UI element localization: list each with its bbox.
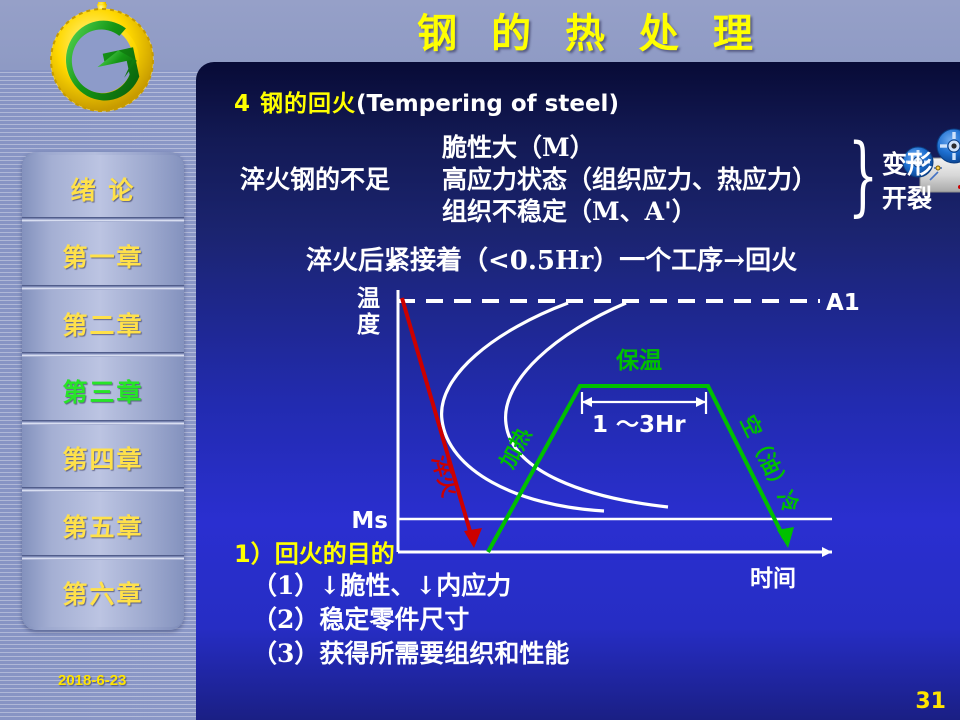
quenched-steel-defects: 淬火钢的不足 脆性大（M） 高应力状态（组织应力、热应力） 组织不稳定（M、A'…: [232, 132, 932, 228]
hold-label: 保温: [615, 347, 662, 374]
ttt-curve-start: [442, 303, 604, 511]
logo-gear-g-icon: [28, 2, 176, 122]
sidebar-item-chapter-4[interactable]: 第四章: [22, 425, 184, 492]
section-heading-en: (Tempering of steel): [356, 91, 619, 117]
hold-duration-label: 1 ～3Hr: [592, 412, 686, 438]
footer-date: 2018-6-23: [58, 672, 126, 689]
slide-content-panel: 4 钢的回火(Tempering of steel): [196, 62, 960, 720]
defect-line-2: 高应力状态（组织应力、热应力）: [442, 164, 817, 196]
defects-label: 淬火钢的不足: [240, 160, 390, 196]
ms-label: Ms: [351, 508, 388, 534]
heating-label: 加热: [494, 424, 536, 474]
tempering-curve: [488, 386, 784, 552]
sidebar-item-intro[interactable]: 绪 论: [22, 155, 184, 222]
defects-list: 脆性大（M） 高应力状态（组织应力、热应力） 组织不稳定（M、A'）: [442, 132, 817, 228]
slide-root: 钢 的 热 处 理 绪 论 第一章 第二章 第三章 第四章 第五章 第六章 20…: [0, 0, 960, 720]
defect-results: 变形 开裂: [882, 148, 932, 216]
section-heading: 4 钢的回火(Tempering of steel): [234, 84, 619, 118]
school-logo: [28, 2, 176, 122]
page-number: 31: [915, 689, 946, 714]
goals-heading: 1）回火的目的: [234, 534, 854, 569]
sidebar-item-chapter-3[interactable]: 第三章: [22, 357, 184, 424]
sidebar-item-chapter-5[interactable]: 第五章: [22, 492, 184, 559]
sidebar-item-chapter-1[interactable]: 第一章: [22, 222, 184, 289]
goal-item-1: （1）↓脆性、↓内应力: [252, 569, 854, 603]
goal-item-3: （3）获得所需要组织和性能: [252, 637, 854, 671]
chart-ylabel: 温: [357, 285, 380, 312]
deck-title: 钢 的 热 处 理: [380, 6, 800, 64]
a1-label: A1: [826, 290, 860, 316]
defect-line-1: 脆性大（M）: [442, 132, 817, 164]
goal-item-2: （2）稳定零件尺寸: [252, 603, 854, 637]
chart-ylabel-2: 度: [357, 311, 381, 338]
sidebar-menu: 绪 论 第一章 第二章 第三章 第四章 第五章 第六章: [22, 152, 184, 630]
tempering-goals: 1）回火的目的 （1）↓脆性、↓内应力 （2）稳定零件尺寸 （3）获得所需要组织…: [234, 534, 854, 671]
hold-duration-arrow: [582, 392, 706, 414]
defect-line-3: 组织不稳定（M、A'）: [442, 196, 817, 228]
sidebar-item-chapter-2[interactable]: 第二章: [22, 290, 184, 357]
quench-label: 淬火: [427, 452, 463, 499]
defect-result-1: 变形: [882, 148, 932, 182]
sidebar-item-chapter-6[interactable]: 第六章: [22, 560, 184, 627]
defect-result-2: 开裂: [882, 182, 932, 216]
section-heading-cn: 4 钢的回火: [234, 91, 356, 117]
right-curly-brace: }: [848, 124, 878, 228]
process-statement: 淬火后紧接着（<0.5Hr）一个工序→回火: [306, 240, 797, 277]
